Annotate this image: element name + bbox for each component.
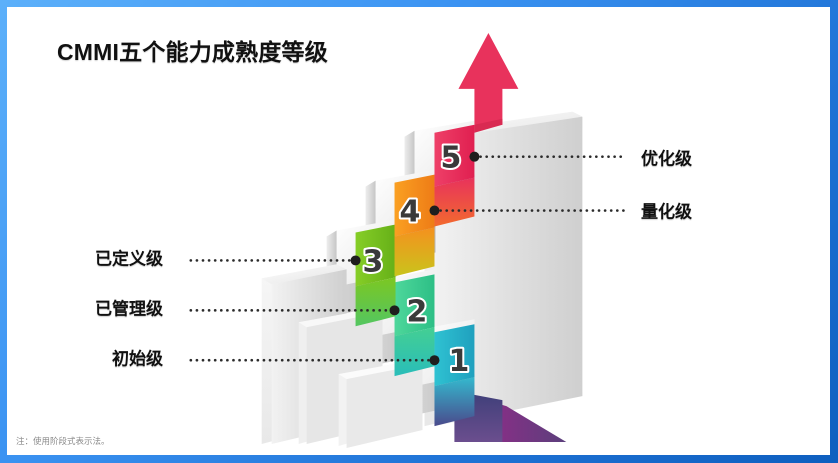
step-number-1: 1 xyxy=(448,344,469,379)
up-arrow-icon xyxy=(458,33,518,133)
leader-dot-5 xyxy=(469,152,479,162)
leader-dot-3 xyxy=(351,255,361,265)
step-label-5: 优化级 xyxy=(641,145,692,170)
leader-dot-2 xyxy=(390,305,400,315)
step-label-1: 初始级 xyxy=(112,345,163,370)
front-left-block xyxy=(339,360,423,448)
step-label-2: 已管理级 xyxy=(95,295,163,320)
footnote-text: 注：使用阶段式表示法。 xyxy=(16,435,110,447)
cmmi-staircase-diagram: 1 2 3 4 5 xyxy=(7,7,830,455)
step-number-5: 5 xyxy=(440,141,461,176)
step-label-3: 已定义级 xyxy=(95,245,163,270)
slide-frame: CMMI五个能力成熟度等级 xyxy=(0,0,838,463)
step-label-4: 量化级 xyxy=(641,198,692,223)
step-number-3: 3 xyxy=(363,244,384,279)
leader-dot-4 xyxy=(429,206,439,216)
slide-canvas: CMMI五个能力成熟度等级 xyxy=(7,7,830,455)
leader-dot-1 xyxy=(429,355,439,365)
step-number-2: 2 xyxy=(407,294,428,329)
step-number-4: 4 xyxy=(400,195,421,230)
